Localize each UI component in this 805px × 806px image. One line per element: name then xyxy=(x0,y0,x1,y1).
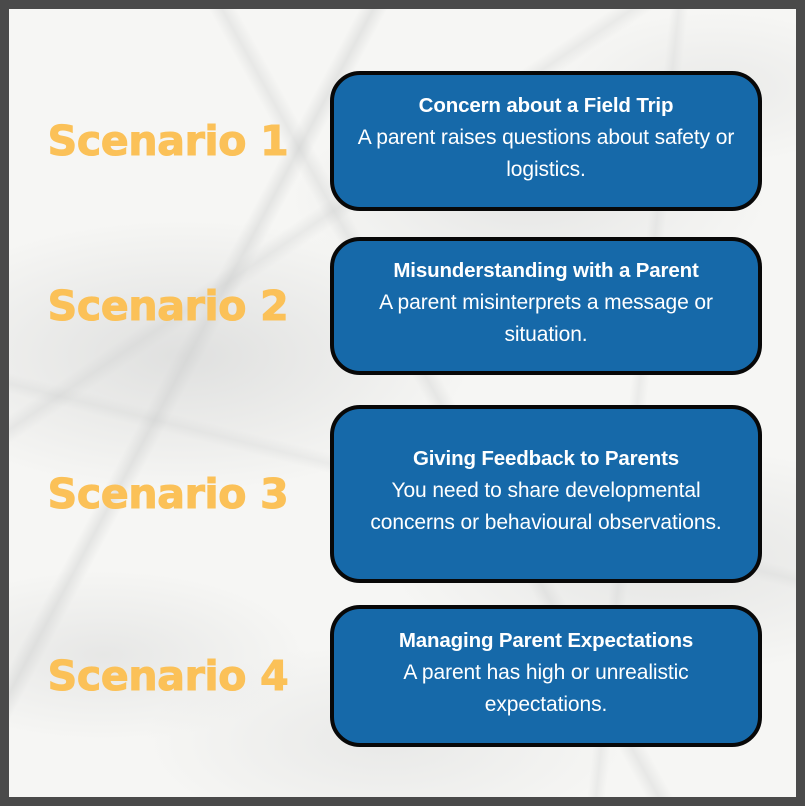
scenario-card-body-2: A parent misinterprets a message or situ… xyxy=(352,287,740,351)
scenario-label-1: Scenario 1 xyxy=(9,121,327,162)
scenario-card-title-2: Misunderstanding with a Parent xyxy=(393,257,698,284)
scenario-card-body-3: You need to share developmental concerns… xyxy=(352,475,740,539)
scenario-card-3[interactable]: Giving Feedback to Parents You need to s… xyxy=(330,405,762,583)
scenario-card-body-4: A parent has high or unrealistic expecta… xyxy=(352,657,740,721)
scenario-card-2[interactable]: Misunderstanding with a Parent A parent … xyxy=(330,237,762,375)
scenario-card-body-1: A parent raises questions about safety o… xyxy=(352,122,740,186)
scenario-row-2: Scenario 2 Misunderstanding with a Paren… xyxy=(9,237,796,375)
scenario-list: Scenario 1 Concern about a Field Trip A … xyxy=(9,9,796,797)
scenario-label-4: Scenario 4 xyxy=(9,656,327,697)
scenario-card-1[interactable]: Concern about a Field Trip A parent rais… xyxy=(330,71,762,211)
scenario-card-title-4: Managing Parent Expectations xyxy=(399,627,693,654)
scenario-row-1: Scenario 1 Concern about a Field Trip A … xyxy=(9,71,796,211)
scenario-card-title-1: Concern about a Field Trip xyxy=(419,92,674,119)
scenario-label-3: Scenario 3 xyxy=(9,474,327,515)
poster-frame: Scenario 1 Concern about a Field Trip A … xyxy=(0,0,805,806)
scenario-label-2: Scenario 2 xyxy=(9,286,327,327)
scenario-row-4: Scenario 4 Managing Parent Expectations … xyxy=(9,605,796,747)
scenario-card-title-3: Giving Feedback to Parents xyxy=(413,445,679,472)
scenario-card-4[interactable]: Managing Parent Expectations A parent ha… xyxy=(330,605,762,747)
scenario-row-3: Scenario 3 Giving Feedback to Parents Yo… xyxy=(9,405,796,583)
